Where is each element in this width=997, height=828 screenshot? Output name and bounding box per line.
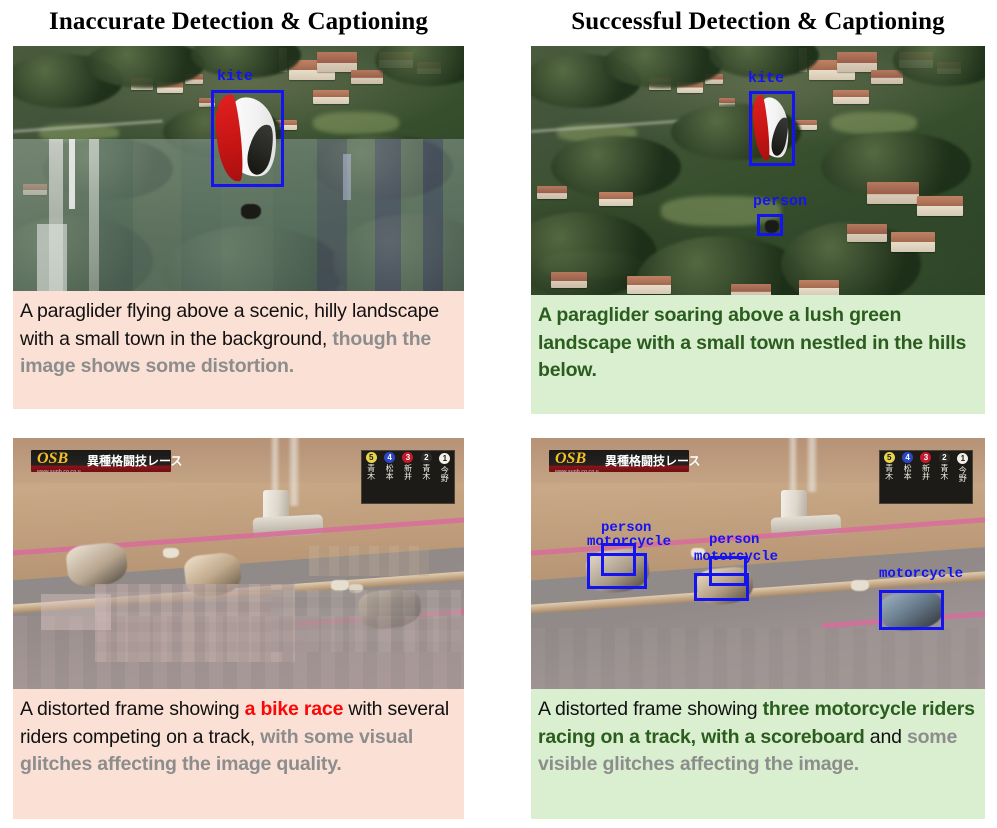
village-house [867, 182, 919, 204]
scoreboard-entry: 3 新井 [399, 451, 417, 503]
village-house [537, 186, 567, 199]
distortion-pixel-blocks [531, 628, 985, 689]
figure-race-distorted: OSB 異種格闘技レース www.sunb.co.co.u 1 今野 2 青木 … [13, 438, 464, 689]
caption-bottom-left: A distorted frame showing a bike race wi… [13, 689, 464, 819]
broadcast-logo-text: OSB [555, 450, 586, 468]
village-house [317, 52, 357, 72]
bbox-label-person: person [753, 193, 807, 210]
distortion-pixel-blocks [41, 594, 111, 630]
scoreboard-name: 松本 [385, 464, 394, 480]
village-house [833, 90, 869, 104]
broadcast-subtitle: www.sunb.co.co.u [555, 469, 599, 475]
figure-race-detected: OSB 異種格闘技レース www.sunb.co.co.u 1 今野 2 青木 … [531, 438, 985, 689]
panel-top-right: kite person A paraglider soaring above a… [531, 46, 985, 414]
scoreboard-entry: 1 今野 [954, 451, 972, 503]
bbox-label-motorcycle: motorcycle [879, 566, 963, 582]
caption-bottom-right: A distorted frame showing three motorcyc… [531, 689, 985, 819]
village-house [871, 70, 903, 84]
scoreboard-name: 今野 [440, 466, 449, 482]
bbox-label-kite: kite [748, 70, 784, 87]
scoreboard-rank: 5 [884, 452, 895, 463]
panel-top-left: kite A paraglider flying above a scenic,… [13, 46, 464, 409]
village-house [313, 90, 349, 104]
scoreboard-name: 青木 [422, 464, 431, 480]
caption-segment-correct: A paraglider soaring above a lush green … [538, 304, 966, 381]
bbox-label-kite: kite [217, 68, 253, 85]
scoreboard-name: 青木 [940, 464, 949, 480]
village-house [847, 224, 887, 242]
bbox-label-motorcycle: motorcycle [694, 549, 778, 565]
bbox-motorcycle [587, 553, 647, 589]
paraglider-canopy [214, 93, 281, 184]
bbox-motorcycle [879, 590, 944, 630]
bbox-person [757, 214, 783, 236]
panel-bottom-right: OSB 異種格闘技レース www.sunb.co.co.u 1 今野 2 青木 … [531, 438, 985, 819]
village-house [731, 284, 771, 295]
scoreboard: 1 今野 2 青木 3 新井 4 松本 [361, 450, 455, 504]
scoreboard-name: 青木 [367, 464, 376, 480]
field-patch [831, 112, 917, 134]
village-house [351, 70, 383, 84]
scoreboard-entry: 4 松本 [380, 451, 398, 503]
scoreboard-entry: 2 青木 [417, 451, 435, 503]
column-header-inaccurate: Inaccurate Detection & Captioning [13, 8, 464, 36]
bbox-motorcycle [694, 573, 749, 601]
light-pole [807, 438, 817, 492]
bbox-label-motorcycle: motorcycle [587, 534, 671, 550]
figure-paraglider-clean: kite person [531, 46, 985, 295]
scoreboard-name: 新井 [921, 464, 930, 480]
light-pole [289, 438, 299, 506]
scoreboard-rank: 4 [384, 452, 395, 463]
bbox-label-person: person [709, 532, 759, 548]
scoreboard-name: 青木 [885, 464, 894, 480]
scoreboard-entry: 2 青木 [935, 451, 953, 503]
village-house [917, 196, 963, 216]
scoreboard-rank: 2 [939, 452, 950, 463]
figure-paraglider-distorted: kite [13, 46, 464, 291]
caption-top-left: A paraglider flying above a scenic, hill… [13, 291, 464, 409]
scoreboard: 1 今野 2 青木 3 新井 4 松本 [879, 450, 973, 504]
broadcast-logo-text: OSB [37, 450, 68, 468]
scoreboard-name: 新井 [403, 464, 412, 480]
tree-cluster [551, 136, 681, 198]
bbox-kite [211, 90, 284, 187]
scene-race-track: OSB 異種格闘技レース www.sunb.co.co.u 1 今野 2 青木 … [13, 438, 464, 689]
scoreboard-rank: 1 [438, 452, 451, 465]
broadcast-title: 異種格闘技レース [605, 452, 700, 469]
scoreboard-rank: 4 [902, 452, 913, 463]
track-debris [163, 548, 179, 558]
caption-segment-plain: A distorted frame showing [20, 698, 245, 720]
scoreboard-entry: 4 松本 [898, 451, 916, 503]
track-debris [851, 580, 869, 591]
field-patch [313, 112, 399, 134]
village-house [551, 272, 587, 288]
scoreboard-rank: 2 [421, 452, 432, 463]
broadcast-subtitle: www.sunb.co.co.u [37, 469, 81, 475]
pilot-silhouette [765, 220, 779, 233]
caption-segment-plain: A distorted frame showing [538, 698, 763, 720]
scoreboard-entry: 3 新井 [917, 451, 935, 503]
scoreboard-name: 今野 [958, 466, 967, 482]
pilot-silhouette [241, 204, 261, 219]
scoreboard-name: 松本 [903, 464, 912, 480]
scoreboard-rank: 1 [956, 452, 969, 465]
caption-segment-plain: and [865, 726, 907, 748]
scoreboard-entry: 1 今野 [436, 451, 454, 503]
caption-top-right: A paraglider soaring above a lush green … [531, 295, 985, 414]
village-house [599, 192, 633, 206]
scoreboard-entry: 5 青木 [880, 451, 898, 503]
village-house [891, 232, 935, 252]
scoreboard-rank: 5 [366, 452, 377, 463]
distortion-pixel-blocks [309, 546, 429, 576]
column-header-successful: Successful Detection & Captioning [531, 8, 985, 36]
village-house [627, 276, 671, 294]
broadcast-title: 異種格闘技レース [87, 452, 182, 469]
paraglider-canopy [752, 94, 792, 163]
light-pole [789, 438, 797, 496]
panel-bottom-left: OSB 異種格闘技レース www.sunb.co.co.u 1 今野 2 青木 … [13, 438, 464, 819]
caption-segment-hallucination: a bike race [245, 698, 344, 720]
scoreboard-entry: 5 青木 [362, 451, 380, 503]
bbox-kite [749, 91, 795, 166]
scoreboard-rank: 3 [402, 452, 413, 463]
village-house [799, 280, 839, 295]
village-house [837, 52, 877, 72]
comparison-figure: Inaccurate Detection & Captioning Succes… [0, 0, 997, 828]
scoreboard-rank: 3 [920, 452, 931, 463]
